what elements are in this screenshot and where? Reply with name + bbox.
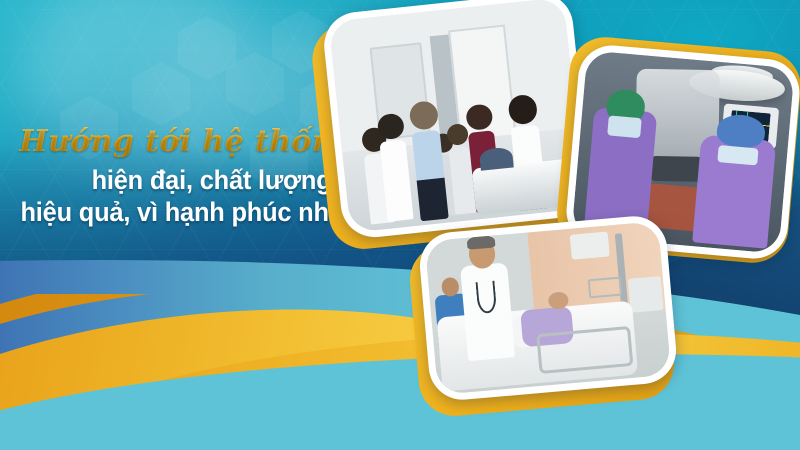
photo-officials-touring-imaging-room [321, 0, 593, 240]
surgeon-green-cap [584, 107, 657, 235]
scene-imaging-room [329, 0, 586, 233]
photo-inner-frame [425, 221, 672, 395]
photo-inner-frame [329, 0, 586, 233]
person-doctor [460, 262, 515, 361]
photo-doctor-bedside-patient [417, 214, 679, 403]
bedside-monitor [570, 232, 609, 260]
stethoscope-icon [475, 280, 497, 314]
hexagon-icon [132, 62, 190, 126]
health-campaign-banner: Hướng tới hệ thống y tế hiện đại, chất l… [0, 0, 800, 450]
equipment-basket [588, 277, 622, 298]
bed-side-rail [536, 326, 633, 374]
scene-hospital-ward [425, 221, 672, 395]
surgeon-blue-cap [692, 135, 776, 249]
bedside-monitor [628, 277, 664, 314]
